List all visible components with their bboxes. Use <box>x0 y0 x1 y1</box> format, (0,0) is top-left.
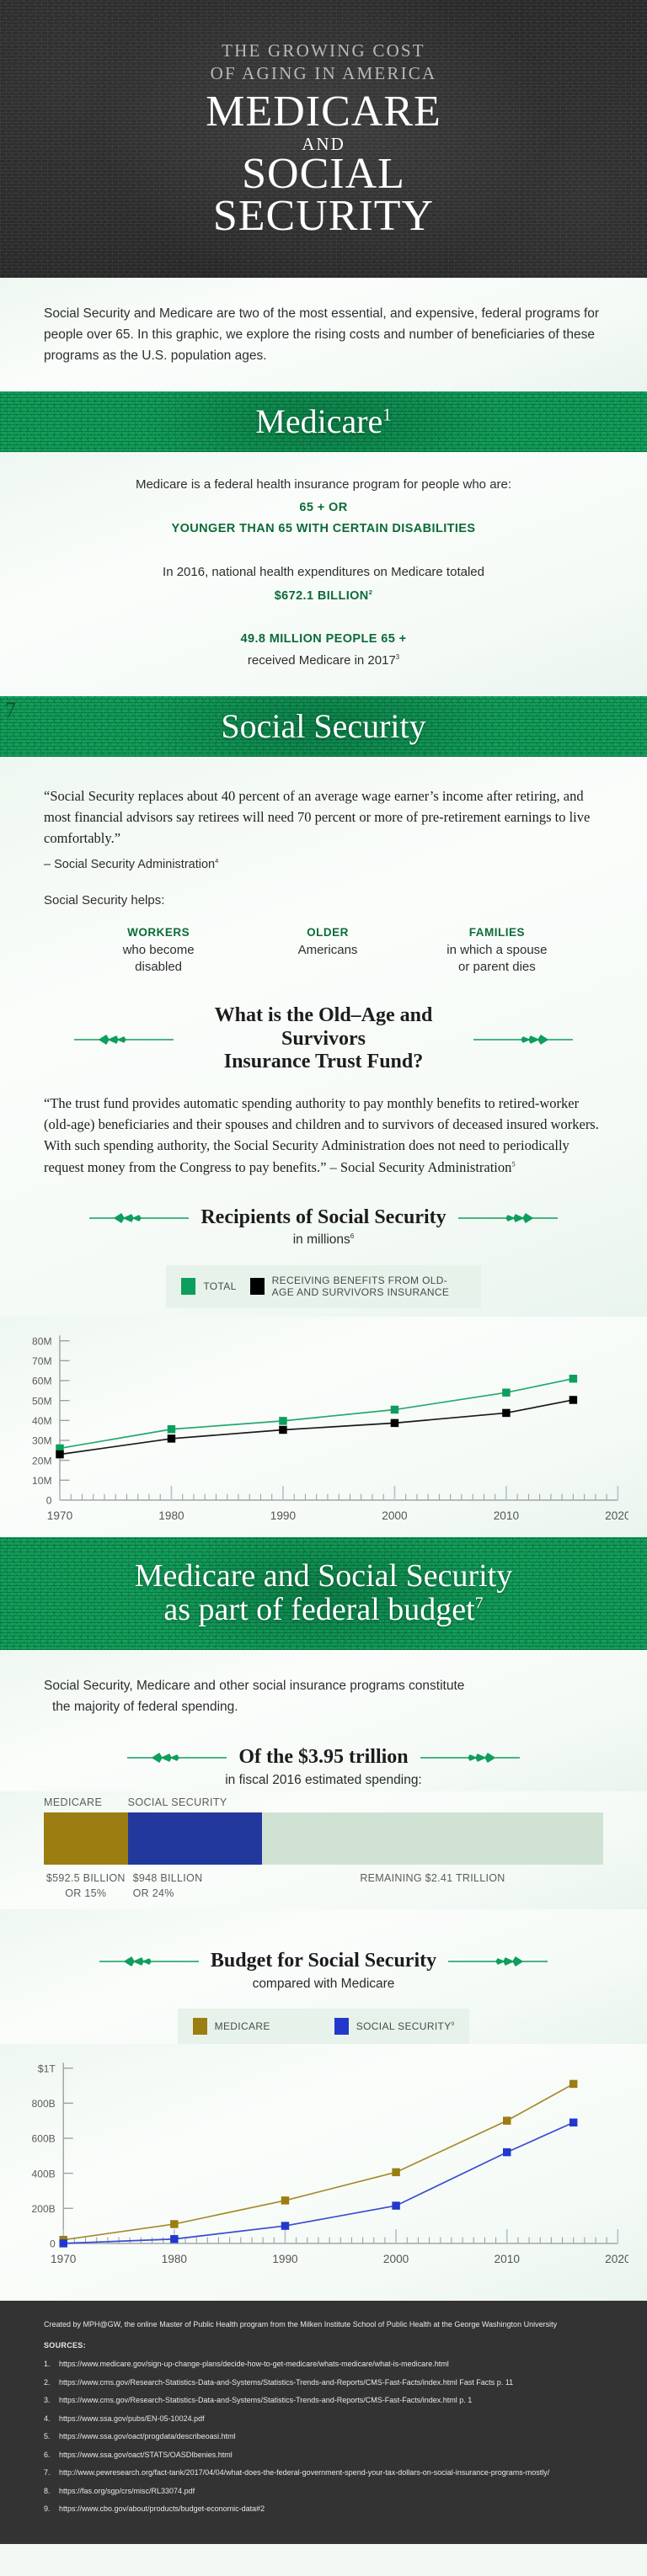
chart2-title: Budget for Social Security <box>211 1950 436 1973</box>
chart2-legend: MEDICARE SOCIAL SECURITY9 <box>178 2009 470 2044</box>
budget-lead-block: Social Security, Medicare and other soci… <box>0 1650 647 1791</box>
y-tick-label: 10M <box>32 1475 52 1487</box>
ssa-attribution: – Social Security Administration4 <box>44 857 603 871</box>
data-point-marker <box>168 1435 175 1443</box>
chart1-series <box>56 1375 577 1458</box>
trillion-subtitle: in fiscal 2016 estimated spending: <box>44 1773 603 1788</box>
bar-segment-social-security <box>128 1812 262 1865</box>
y-tick-label: 200B <box>32 2203 56 2215</box>
budget-banner-footnote: 7 <box>475 1594 484 1613</box>
source-url[interactable]: https://fas.org/sgp/crs/misc/RL33074.pdf <box>59 2486 195 2498</box>
chart1-title: Recipients of Social Security <box>201 1206 446 1230</box>
helps-detail: who become disabled <box>86 942 231 976</box>
y-tick-label: 40M <box>32 1415 52 1427</box>
chart1-subtitle-text: in millions <box>293 1233 350 1248</box>
data-point-marker <box>281 2222 289 2230</box>
data-point-marker <box>503 2148 511 2156</box>
chart2-series <box>59 2080 577 2248</box>
source-number: 6. <box>44 2450 54 2462</box>
source-url[interactable]: https://www.medicare.gov/sign-up-change-… <box>59 2359 449 2371</box>
source-url[interactable]: https://www.ssa.gov/oact/STATS/OASDIbeni… <box>59 2450 233 2462</box>
intro-paragraph: Social Security and Medicare are two of … <box>44 303 603 366</box>
ornament-left-icon <box>127 1752 227 1764</box>
source-number: 2. <box>44 2377 54 2389</box>
medicare-expenditure-footnote: 2 <box>369 588 373 596</box>
medicare-recipients-sub-text: received Medicare in 2017 <box>248 653 396 668</box>
legend-swatch-oasi <box>250 1278 265 1295</box>
trillion-heading-text: Of the $3.95 trillion <box>238 1746 408 1770</box>
y-tick-label: 30M <box>32 1435 52 1447</box>
y-tick-label: 800B <box>32 2098 56 2110</box>
source-item[interactable]: 9.https://www.cbo.gov/about/products/bud… <box>44 2504 603 2515</box>
source-number: 4. <box>44 2414 54 2425</box>
x-tick-label: 2020 <box>605 2253 628 2265</box>
source-item[interactable]: 6.https://www.ssa.gov/oact/STATS/OASDIbe… <box>44 2450 603 2462</box>
data-point-marker <box>279 1426 286 1434</box>
data-point-marker <box>279 1417 286 1424</box>
intro-section: Social Security and Medicare are two of … <box>0 278 647 391</box>
budget-bar-captions: MEDICARE SOCIAL SECURITY <box>44 1796 603 1808</box>
source-url[interactable]: https://www.ssa.gov/oact/progdata/descri… <box>59 2431 236 2443</box>
data-point-marker <box>168 1425 175 1433</box>
bar-caption-social-security: SOCIAL SECURITY <box>128 1796 262 1808</box>
budget-banner-title: Medicare and Social Security as part of … <box>135 1560 512 1627</box>
social-security-body: “Social Security replaces about 40 perce… <box>0 757 647 1317</box>
legend-item-total: TOTAL <box>181 1278 236 1295</box>
hero-title-security: SECURITY <box>0 195 647 238</box>
trust-fund-quote-text: “The trust fund provides automatic spend… <box>44 1095 599 1174</box>
series-line <box>60 1400 573 1455</box>
ornament-left-icon <box>74 1034 174 1046</box>
helps-heading: OLDER <box>255 926 400 939</box>
y-tick-label: 60M <box>32 1376 52 1387</box>
data-point-marker <box>392 2169 399 2176</box>
ornament-right-icon <box>473 1034 573 1046</box>
legend-label-ss-footnote: 9 <box>452 2021 455 2027</box>
medicare-recipients-value: 49.8 MILLION PEOPLE 65 + <box>34 632 613 646</box>
legend-label-ss-text: SOCIAL SECURITY <box>356 2020 452 2032</box>
source-item[interactable]: 2.https://www.cms.gov/Research-Statistic… <box>44 2377 603 2389</box>
helps-heading: FAMILIES <box>425 926 569 939</box>
y-tick-label: 600B <box>32 2133 56 2145</box>
medicare-eligibility-1: 65 + OR <box>34 501 613 514</box>
budget-banner-title-line-2-text: as part of federal budget <box>163 1592 474 1627</box>
source-url[interactable]: https://www.cms.gov/Research-Statistics-… <box>59 2395 472 2407</box>
medicare-expenditure-amount: $672.1 BILLION <box>275 589 369 603</box>
infographic-page: THE GROWING COST OF AGING IN AMERICA MED… <box>0 0 647 2544</box>
y-tick-label: 400B <box>32 2169 56 2180</box>
chart2-heading: Budget for Social Security <box>74 1950 573 1973</box>
medicare-section-banner: Medicare1 <box>0 391 647 452</box>
medicare-recipients-sub: received Medicare in 20173 <box>34 653 613 668</box>
data-point-marker <box>391 1419 398 1427</box>
helps-detail: Americans <box>255 942 400 959</box>
series-line <box>63 2084 573 2240</box>
medicare-eligibility-2: YOUNGER THAN 65 WITH CERTAIN DISABILITIE… <box>34 522 613 535</box>
source-url[interactable]: https://www.cms.gov/Research-Statistics-… <box>59 2377 513 2389</box>
ornament-left-icon <box>99 1956 199 1967</box>
trust-fund-heading: What is the Old–Age and Survivors Insura… <box>74 1004 573 1074</box>
legend-item-medicare: MEDICARE <box>193 2018 270 2035</box>
data-point-marker <box>59 2239 67 2247</box>
chart1-x-axis: 197019801990200020102020 <box>47 1486 628 1522</box>
bar-footnote-medicare-percent: OR 15% <box>44 1886 128 1901</box>
legend-label-medicare: MEDICARE <box>215 2020 270 2033</box>
source-item[interactable]: 1.https://www.medicare.gov/sign-up-chang… <box>44 2359 603 2371</box>
data-point-marker <box>170 2235 178 2243</box>
y-tick-label: 0 <box>46 1495 52 1507</box>
ornament-right-icon <box>458 1212 558 1224</box>
trust-fund-heading-text: What is the Old–Age and Survivors Insura… <box>185 1004 462 1074</box>
hero-kicker: THE GROWING COST OF AGING IN AMERICA <box>0 40 647 86</box>
helps-heading: WORKERS <box>86 926 231 939</box>
budget-lead-line-2: the majority of federal spending. <box>52 1696 238 1717</box>
x-tick-label: 2000 <box>382 1509 408 1522</box>
y-tick-label: 0 <box>50 2238 56 2250</box>
x-tick-label: 2010 <box>495 2253 521 2265</box>
data-point-marker <box>56 1450 63 1458</box>
ornament-right-icon <box>448 1956 548 1967</box>
bar-segment-remaining <box>262 1812 603 1865</box>
budget-section-banner: Medicare and Social Security as part of … <box>0 1537 647 1650</box>
ornament-right-icon <box>420 1752 520 1764</box>
legend-item-oasi: RECEIVING BENEFITS FROM OLD-AGE AND SURV… <box>250 1275 466 1300</box>
x-tick-label: 1970 <box>47 1509 73 1522</box>
hero-kicker-line-1: THE GROWING COST <box>0 40 647 63</box>
ssa-attribution-footnote: 4 <box>215 857 218 865</box>
y-tick-label: 80M <box>32 1336 52 1348</box>
budget-banner-title-line-2: as part of federal budget7 <box>135 1594 512 1627</box>
y-tick-label: $1T <box>38 2063 56 2075</box>
bar-segment-medicare <box>44 1812 128 1865</box>
data-point-marker <box>281 2196 289 2204</box>
chart2-container: 0200B400B600B800B$1T 1970198019902000201… <box>0 2044 647 2301</box>
helps-detail: in which a spouse or parent dies <box>425 942 569 976</box>
bar-footnote-social-security: $948 BILLION OR 24% <box>128 1871 262 1901</box>
hero-banner: THE GROWING COST OF AGING IN AMERICA MED… <box>0 0 647 278</box>
medicare-banner-footnote: 1 <box>382 406 391 425</box>
data-point-marker <box>569 1375 577 1382</box>
legend-item-social-security: SOCIAL SECURITY9 <box>334 2018 455 2035</box>
budget-banner-title-line-1: Medicare and Social Security <box>135 1560 512 1594</box>
medicare-expenditure-value: $672.1 BILLION2 <box>34 588 613 603</box>
source-number: 5. <box>44 2431 54 2443</box>
chart1-svg: 010M20M30M40M50M60M70M80M 19701980199020… <box>8 1328 628 1532</box>
data-point-marker <box>502 1409 510 1417</box>
source-number: 3. <box>44 2395 54 2407</box>
x-tick-label: 1990 <box>272 2253 298 2265</box>
x-tick-label: 1980 <box>158 1509 184 1522</box>
bar-footnote-ss-percent: OR 24% <box>133 1886 262 1901</box>
data-point-marker <box>569 2119 577 2126</box>
ssa-pullquote: “Social Security replaces about 40 perce… <box>44 785 603 849</box>
chart2-svg: 0200B400B600B800B$1T 1970198019902000201… <box>8 2056 628 2277</box>
source-item[interactable]: 4.https://www.ssa.gov/pubs/EN-05-10024.p… <box>44 2414 603 2425</box>
hero-kicker-line-2: OF AGING IN AMERICA <box>0 62 647 86</box>
x-tick-label: 1990 <box>270 1509 297 1522</box>
bar-footnote-medicare: $592.5 BILLION OR 15% <box>44 1871 128 1901</box>
x-tick-label: 1980 <box>162 2253 188 2265</box>
banner-corner-number: 7 <box>5 698 16 723</box>
source-number: 9. <box>44 2504 54 2515</box>
trust-fund-heading-line-1: What is the Old–Age and Survivors <box>185 1004 462 1051</box>
medicare-expenditure-lead: In 2016, national health expenditures on… <box>34 565 613 579</box>
hero-title-social: SOCIAL <box>0 153 647 196</box>
legend-label-oasi: RECEIVING BENEFITS FROM OLD-AGE AND SURV… <box>272 1275 466 1300</box>
bar-footnote-ss-amount: $948 BILLION <box>133 1871 262 1886</box>
chart1-container: 010M20M30M40M50M60M70M80M 19701980199020… <box>0 1317 647 1537</box>
legend-label-social-security: SOCIAL SECURITY9 <box>356 2020 455 2033</box>
helps-column-families: FAMILIES in which a spouse or parent die… <box>425 926 569 976</box>
y-tick-label: 20M <box>32 1456 52 1467</box>
social-security-banner-title: Social Security <box>221 709 425 744</box>
x-tick-label: 2000 <box>383 2253 409 2265</box>
medicare-recipients-footnote: 3 <box>396 653 399 661</box>
x-tick-label: 2020 <box>605 1509 628 1522</box>
trust-fund-quote: “The trust fund provides automatic spend… <box>44 1093 603 1177</box>
legend-swatch-medicare <box>193 2018 207 2035</box>
chart2-y-axis: 0200B400B600B800B$1T <box>32 2063 73 2250</box>
social-security-section-banner: 7 Social Security <box>0 696 647 757</box>
page-title: MEDICARE AND SOCIAL SECURITY <box>0 91 647 238</box>
source-url[interactable]: http://www.pewresearch.org/fact-tank/201… <box>59 2467 549 2479</box>
data-point-marker <box>503 2117 511 2125</box>
social-security-helps-grid: WORKERS who become disabled OLDER Americ… <box>86 926 569 976</box>
legend-label-total: TOTAL <box>203 1280 236 1293</box>
chart1-subtitle: in millions6 <box>44 1232 603 1248</box>
x-tick-label: 1970 <box>51 2253 77 2265</box>
source-url[interactable]: https://www.cbo.gov/about/products/budge… <box>59 2504 265 2515</box>
source-number: 1. <box>44 2359 54 2371</box>
data-point-marker <box>170 2221 178 2228</box>
source-item[interactable]: 7.http://www.pewresearch.org/fact-tank/2… <box>44 2467 603 2479</box>
footer-source-list: 1.https://www.medicare.gov/sign-up-chang… <box>44 2359 603 2515</box>
chart2-x-axis: 197019801990200020102020 <box>51 2229 628 2265</box>
y-tick-label: 70M <box>32 1355 52 1367</box>
bar-footnote-remaining: REMAINING $2.41 TRILLION <box>262 1871 603 1901</box>
footer-sources-label: SOURCES: <box>44 2340 603 2352</box>
trust-fund-quote-footnote: 5 <box>511 1159 515 1168</box>
medicare-banner-title-text: Medicare <box>255 402 382 440</box>
series-line <box>63 2123 573 2244</box>
helps-column-older: OLDER Americans <box>255 926 400 976</box>
source-number: 7. <box>44 2467 54 2479</box>
budget-stacked-bar <box>44 1812 603 1865</box>
medicare-facts: Medicare is a federal health insurance p… <box>0 452 647 696</box>
bar-caption-medicare: MEDICARE <box>44 1796 128 1808</box>
medicare-banner-title: Medicare1 <box>255 404 391 439</box>
legend-swatch-total <box>181 1278 195 1295</box>
ssa-attribution-text: – Social Security Administration <box>44 858 215 871</box>
y-tick-label: 50M <box>32 1396 52 1408</box>
chart1-heading: Recipients of Social Security <box>74 1206 573 1230</box>
budget-bar-footnotes: $592.5 BILLION OR 15% $948 BILLION OR 24… <box>44 1871 603 1901</box>
source-item[interactable]: 5.https://www.ssa.gov/oact/progdata/desc… <box>44 2431 603 2443</box>
source-item[interactable]: 3.https://www.cms.gov/Research-Statistic… <box>44 2395 603 2407</box>
hero-title-medicare: MEDICARE <box>0 91 647 134</box>
chart1-legend: TOTAL RECEIVING BENEFITS FROM OLD-AGE AN… <box>166 1265 480 1309</box>
x-tick-label: 2010 <box>494 1509 520 1522</box>
budget-lead-line-1: Social Security, Medicare and other soci… <box>44 1679 464 1693</box>
trillion-heading: Of the $3.95 trillion <box>74 1746 573 1770</box>
trust-fund-heading-line-2: Insurance Trust Fund? <box>185 1051 462 1074</box>
legend-swatch-social-security <box>334 2018 349 2035</box>
footer-credit: Created by MPH@GW, the online Master of … <box>44 2319 603 2331</box>
footer: Created by MPH@GW, the online Master of … <box>0 2301 647 2544</box>
chart2-heading-block: Budget for Social Security compared with… <box>0 1909 647 2044</box>
budget-bar-block: MEDICARE SOCIAL SECURITY $592.5 BILLION … <box>0 1791 647 1909</box>
data-point-marker <box>569 2080 577 2088</box>
source-item[interactable]: 8.https://fas.org/sgp/crs/misc/RL33074.p… <box>44 2486 603 2498</box>
ornament-left-icon <box>89 1212 189 1224</box>
chart2-subtitle: compared with Medicare <box>44 1977 603 1992</box>
data-point-marker <box>392 2202 399 2210</box>
data-point-marker <box>502 1389 510 1397</box>
chart1-y-axis: 010M20M30M40M50M60M70M80M <box>32 1336 70 1507</box>
bar-footnote-medicare-amount: $592.5 BILLION <box>44 1871 128 1886</box>
source-number: 8. <box>44 2486 54 2498</box>
chart1-subtitle-footnote: 6 <box>350 1232 354 1240</box>
budget-lead: Social Security, Medicare and other soci… <box>44 1675 603 1717</box>
helps-column-workers: WORKERS who become disabled <box>86 926 231 976</box>
data-point-marker <box>391 1406 398 1413</box>
medicare-lead: Medicare is a federal health insurance p… <box>34 477 613 492</box>
social-security-helps-lead: Social Security helps: <box>44 893 603 907</box>
data-point-marker <box>569 1397 577 1404</box>
source-url[interactable]: https://www.ssa.gov/pubs/EN-05-10024.pdf <box>59 2414 205 2425</box>
